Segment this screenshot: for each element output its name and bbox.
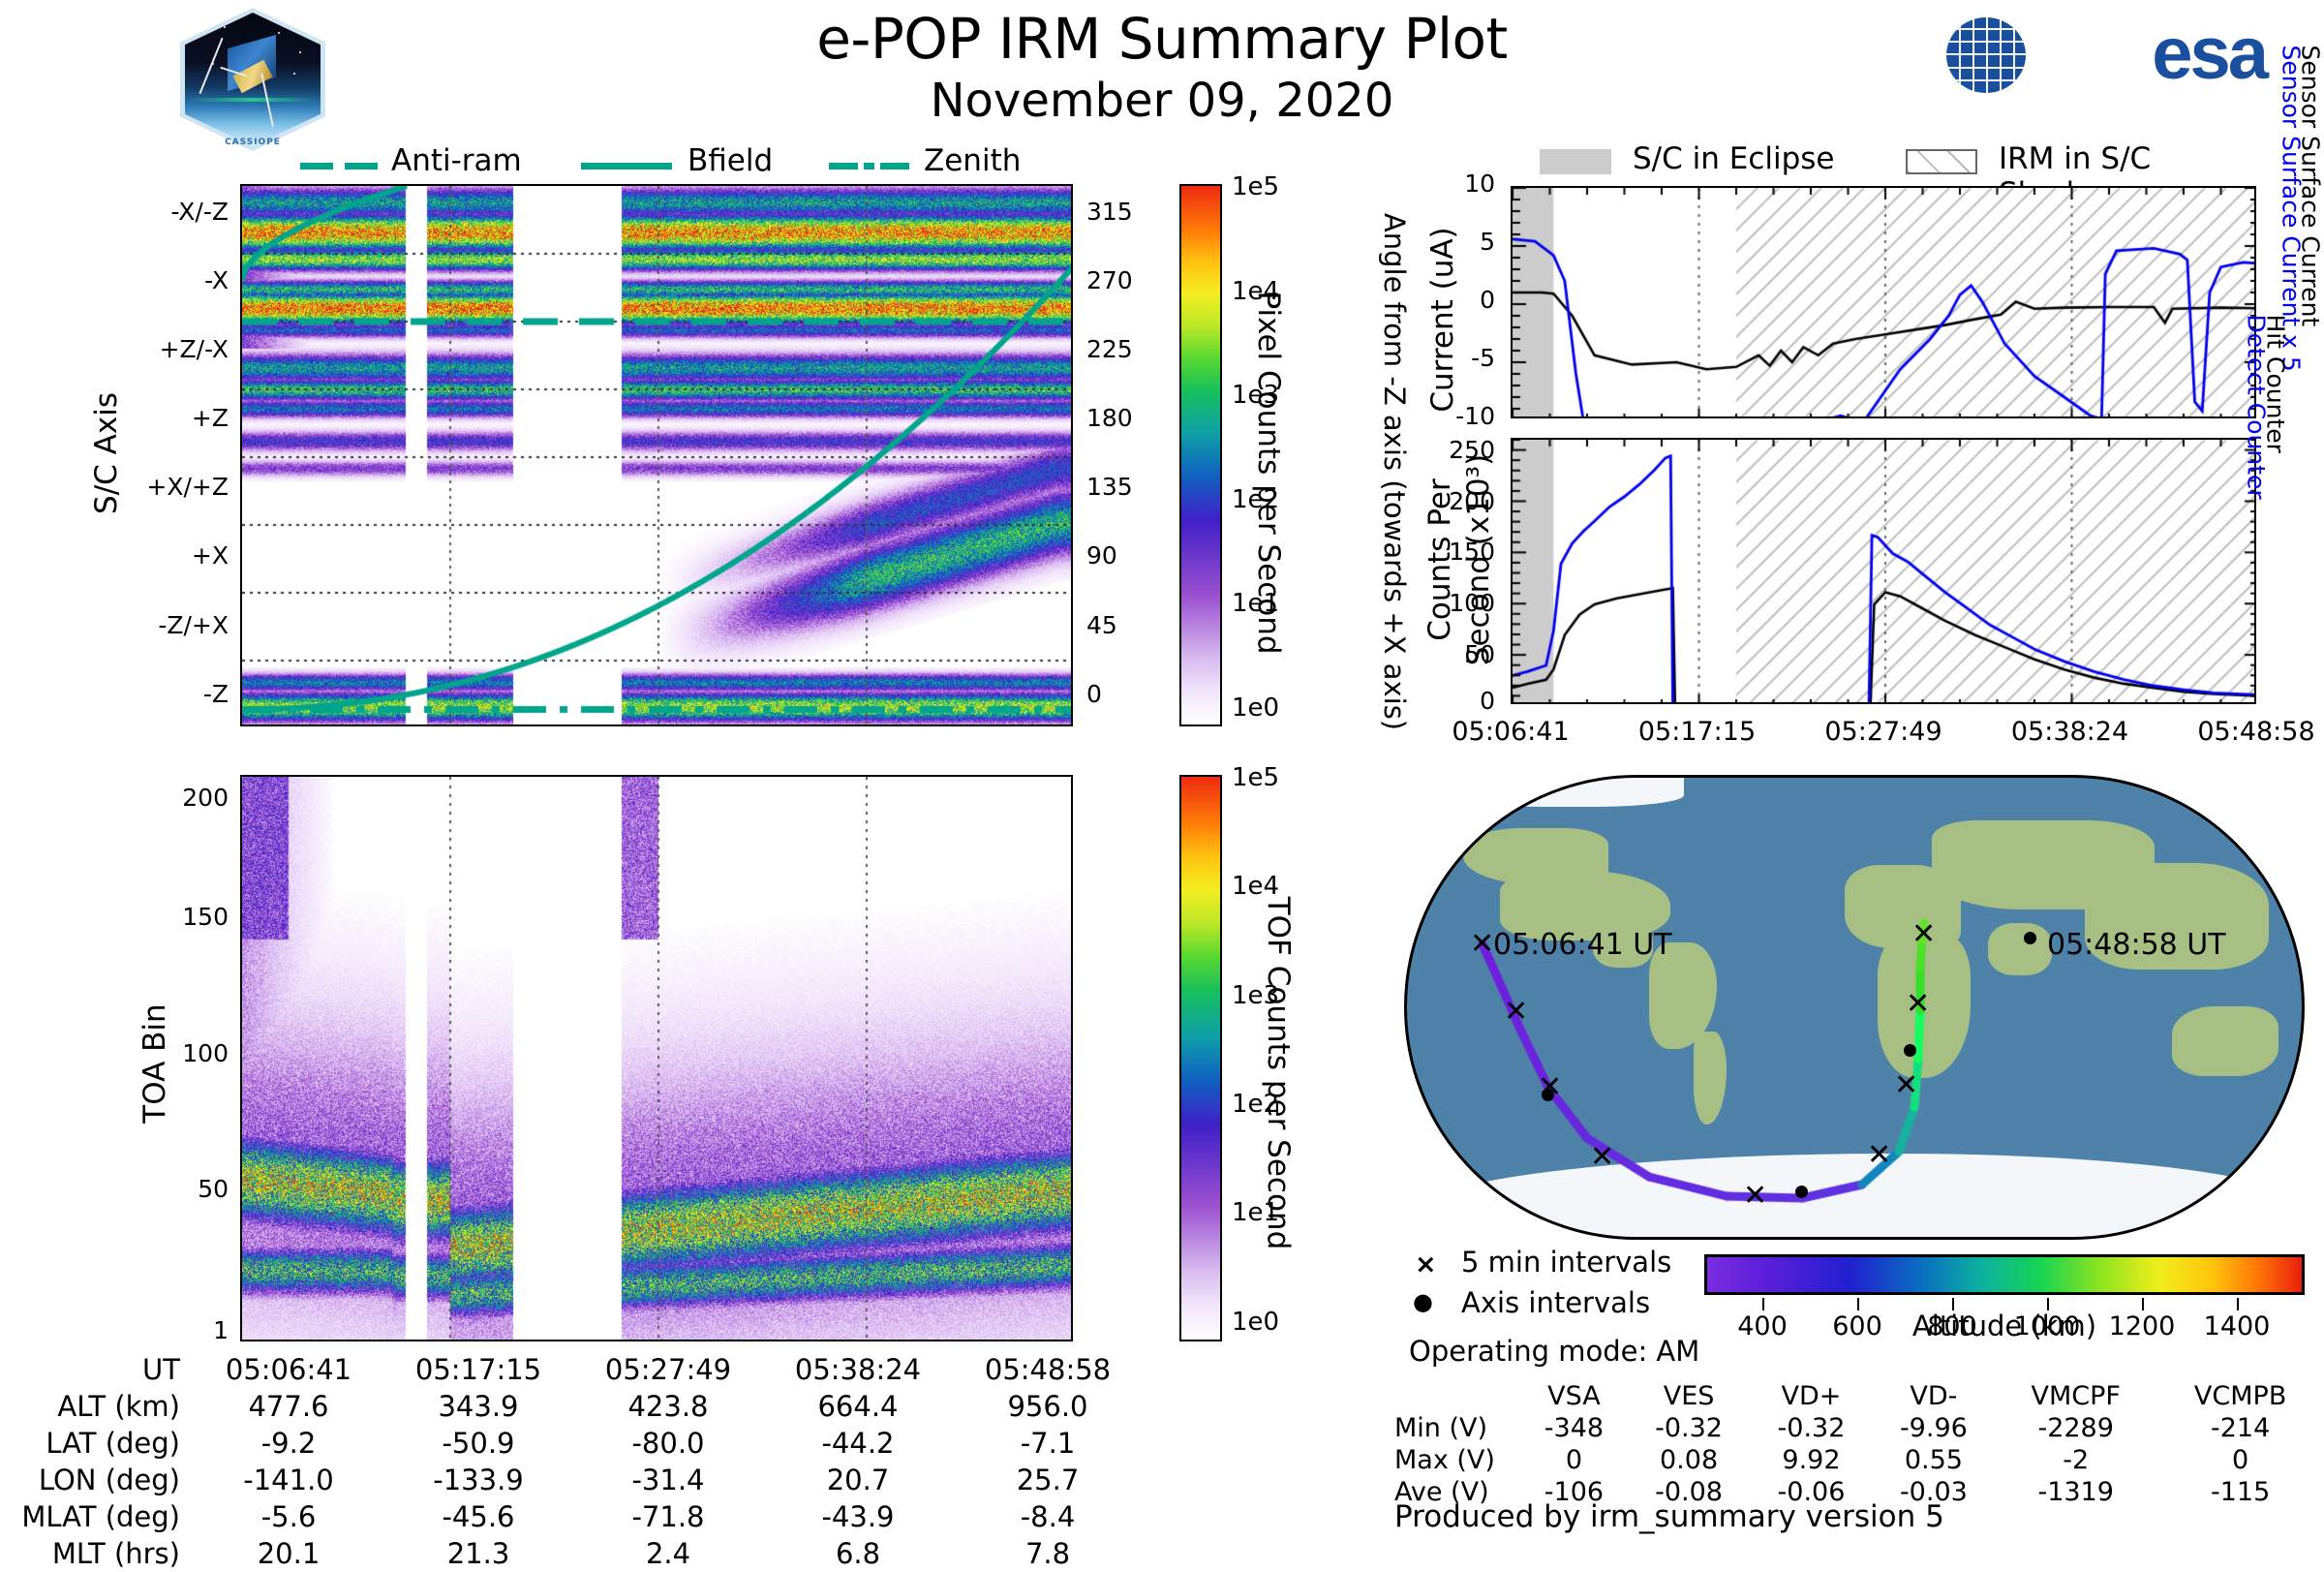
param-cell: -50.9 — [383, 1425, 573, 1462]
pixel-right-tick-7: 0 — [1086, 680, 1174, 708]
counts-ytick-2: 150 — [1375, 538, 1495, 566]
counts-per-second-plot[interactable] — [1511, 438, 2256, 704]
counts-ytick-0: 250 — [1375, 436, 1495, 464]
altitude-colorbar-caption: Altitude (km) — [1704, 1310, 2305, 1342]
eclipse-swatch — [1540, 149, 1611, 174]
param-cell: 21.3 — [383, 1535, 573, 1572]
param-row-label: LON (deg) — [0, 1462, 194, 1498]
altitude-colorbar: 400 600 800 1000 1200 1400 — [1704, 1254, 2305, 1295]
time-tick-1: 05:17:15 — [1605, 717, 1789, 747]
volt-cell: -348 — [1520, 1412, 1628, 1444]
param-cell: -141.0 — [194, 1462, 383, 1498]
x-marker-icon: × — [1415, 1249, 1437, 1279]
time-tick-3: 05:38:24 — [1978, 717, 2162, 747]
param-cell: 05:17:15 — [383, 1351, 573, 1388]
track-marker-x-start: ✕ — [1470, 930, 1494, 959]
map-start-time-label: 05:06:41 UT — [1493, 928, 1672, 962]
time-tick-2: 05:27:49 — [1791, 717, 1975, 747]
param-cell: -31.4 — [573, 1462, 763, 1498]
pixel-ytick-0: -X/-Z — [56, 198, 229, 226]
pixel-right-tick-5: 90 — [1086, 541, 1174, 570]
counts-ytick-3: 100 — [1375, 589, 1495, 617]
table-row: Max (V)00.089.920.55-20 — [1394, 1444, 2324, 1476]
esa-globe-icon — [1946, 17, 2026, 93]
counts-right-label-black: Hit Counter — [2262, 315, 2290, 722]
table-row: MLAT (deg)-5.6-45.6-71.8-43.9-8.4 — [0, 1498, 1143, 1535]
legend-label-zenith: Zenith — [924, 143, 1021, 178]
footer-produced-by: Produced by irm_summary version 5 — [1394, 1499, 1944, 1534]
param-cell: -133.9 — [383, 1462, 573, 1498]
operating-mode-label: Operating mode: AM — [1409, 1335, 1699, 1368]
volt-column-header: VMCPF — [1995, 1380, 2156, 1412]
legend-label-anti-ram: Anti-ram — [391, 143, 522, 178]
param-cell: 05:48:58 — [953, 1351, 1143, 1388]
volt-cell: -1319 — [1995, 1476, 2156, 1508]
table-row: UT05:06:4105:17:1505:27:4905:38:2405:48:… — [0, 1351, 1143, 1388]
pixel-right-tick-3: 180 — [1086, 404, 1174, 432]
param-cell: 423.8 — [573, 1388, 763, 1425]
cassiope-mission-patch: CASSIOPE — [180, 8, 325, 151]
param-cell: 25.7 — [953, 1462, 1143, 1498]
overlay-legend: Anti-ram Bfield Zenith — [290, 143, 1046, 186]
param-cell: 2.4 — [573, 1535, 763, 1572]
tof-counts-spectrogram[interactable] — [240, 775, 1073, 1341]
pixel-ytick-7: -Z — [56, 680, 229, 708]
pixel-cbar-tick-0: 1e5 — [1232, 172, 1279, 201]
track-marker-dot — [1904, 1044, 1916, 1057]
param-cell: 6.8 — [763, 1535, 953, 1572]
shading-legend: S/C in Eclipse IRM in S/C Shadow — [1540, 141, 2276, 180]
track-marker-x: ✕ — [1743, 1182, 1767, 1211]
counts-ytick-5: 0 — [1375, 687, 1495, 715]
volt-cell: -9.96 — [1873, 1412, 1995, 1444]
volt-cell: 9.92 — [1750, 1444, 1872, 1476]
pixel-ytick-4: +X/+Z — [56, 473, 229, 501]
current-ytick-1: 5 — [1375, 228, 1495, 256]
volt-header-blank — [1394, 1380, 1520, 1412]
orbit-parameter-table: UT05:06:4105:17:1505:27:4905:38:2405:48:… — [0, 1351, 1143, 1572]
tof-colorbar — [1179, 775, 1222, 1341]
track-marker-dot — [1542, 1089, 1554, 1101]
volt-cell: -2 — [1995, 1444, 2156, 1476]
param-cell: 20.7 — [763, 1462, 953, 1498]
volt-column-header: VD- — [1873, 1380, 1995, 1412]
param-cell: -45.6 — [383, 1498, 573, 1535]
volt-cell: 0.55 — [1873, 1444, 1995, 1476]
counts-ytick-1: 200 — [1375, 487, 1495, 515]
table-row: Min (V)-348-0.32-0.32-9.96-2289-214 — [1394, 1412, 2324, 1444]
param-row-label: UT — [0, 1351, 194, 1388]
tof-ytick-2: 100 — [95, 1039, 229, 1067]
param-cell: 343.9 — [383, 1388, 573, 1425]
param-cell: 05:38:24 — [763, 1351, 953, 1388]
table-row: LAT (deg)-9.2-50.9-80.0-44.2-7.1 — [0, 1425, 1143, 1462]
surface-current-plot[interactable] — [1511, 186, 2256, 418]
param-cell: -8.4 — [953, 1498, 1143, 1535]
current-ytick-2: 0 — [1375, 286, 1495, 314]
param-row-label: LAT (deg) — [0, 1425, 194, 1462]
pixel-ytick-6: -Z/+X — [56, 611, 229, 639]
pixel-colorbar — [1179, 184, 1222, 726]
tof-colorbar-label: TOF Counts per Second — [1261, 792, 1296, 1354]
current-ytick-3: -5 — [1375, 344, 1495, 372]
param-cell: -7.1 — [953, 1425, 1143, 1462]
param-cell: 956.0 — [953, 1388, 1143, 1425]
shadow-swatch — [1906, 149, 1977, 174]
volt-cell: 0 — [1520, 1444, 1628, 1476]
volt-row-label: Min (V) — [1394, 1412, 1520, 1444]
pixel-right-tick-1: 270 — [1086, 266, 1174, 294]
param-cell: -80.0 — [573, 1425, 763, 1462]
map-legend-five-min: 5 min intervals — [1461, 1246, 1671, 1279]
pixel-counts-spectrogram[interactable] — [240, 184, 1073, 726]
track-marker-x: ✕ — [1894, 1071, 1918, 1100]
esa-logo: esa — [1946, 10, 2266, 97]
tof-ytick-3: 50 — [95, 1175, 229, 1203]
param-cell: -71.8 — [573, 1498, 763, 1535]
volt-cell: -0.32 — [1628, 1412, 1750, 1444]
track-marker-x: ✕ — [1504, 998, 1528, 1027]
param-cell: -43.9 — [763, 1498, 953, 1535]
volt-column-header: VCMPB — [2156, 1380, 2324, 1412]
table-row: MLT (hrs)20.121.32.46.87.8 — [0, 1535, 1143, 1572]
param-cell: 7.8 — [953, 1535, 1143, 1572]
track-marker-x: ✕ — [1867, 1141, 1891, 1170]
pixel-right-tick-4: 135 — [1086, 473, 1174, 501]
param-cell: 477.6 — [194, 1388, 383, 1425]
track-marker-dot-end — [2024, 932, 2036, 944]
volt-cell: -214 — [2156, 1412, 2324, 1444]
track-marker-x: ✕ — [1906, 990, 1930, 1019]
track-marker-x: ✕ — [1911, 920, 1936, 949]
volt-cell: -2289 — [1995, 1412, 2156, 1444]
param-cell: 05:27:49 — [573, 1351, 763, 1388]
param-cell: 05:06:41 — [194, 1351, 383, 1388]
table-row: LON (deg)-141.0-133.9-31.420.725.7 — [0, 1462, 1143, 1498]
voltage-summary-table: VSAVESVD+VD-VMCPFVCMPBMin (V)-348-0.32-0… — [1394, 1380, 2324, 1508]
track-marker-x: ✕ — [1590, 1143, 1614, 1172]
esa-wordmark: esa — [2152, 12, 2266, 96]
ground-track-map[interactable]: ✕ 05:06:41 UT 05:48:58 UT ✕ ✕ ✕ ✕ ✕ ✕ ✕ … — [1404, 775, 2305, 1240]
volt-column-header: VD+ — [1750, 1380, 1872, 1412]
pixel-ytick-2: +Z/-X — [56, 335, 229, 363]
table-row: ALT (km)477.6343.9423.8664.4956.0 — [0, 1388, 1143, 1425]
pixel-colorbar-label: Pixel Counts per Second — [1251, 201, 1286, 744]
pixel-ytick-5: +X — [56, 541, 229, 570]
pixel-right-tick-6: 45 — [1086, 611, 1174, 639]
volt-cell: -115 — [2156, 1476, 2324, 1508]
param-cell: 664.4 — [763, 1388, 953, 1425]
current-ytick-0: 10 — [1375, 170, 1495, 198]
tof-ytick-1: 150 — [95, 903, 229, 931]
pixel-ytick-3: +Z — [56, 404, 229, 432]
param-row-label: ALT (km) — [0, 1388, 194, 1425]
counts-ytick-4: 50 — [1375, 640, 1495, 668]
tof-cbar-tick-0: 1e5 — [1232, 763, 1279, 792]
volt-cell: 0.08 — [1628, 1444, 1750, 1476]
track-marker-dot — [1795, 1186, 1808, 1198]
volt-column-header: VES — [1628, 1380, 1750, 1412]
param-cell: -44.2 — [763, 1425, 953, 1462]
time-tick-4: 05:48:58 — [2164, 717, 2324, 747]
map-legend-axis-intervals: Axis intervals — [1461, 1286, 1650, 1319]
map-end-time-label: 05:48:58 UT — [2047, 928, 2226, 962]
tof-ytick-0: 200 — [95, 784, 229, 812]
param-cell: 20.1 — [194, 1535, 383, 1572]
time-tick-0: 05:06:41 — [1419, 717, 1603, 747]
tof-ytick-4: 1 — [95, 1316, 229, 1344]
volt-cell: -0.32 — [1750, 1412, 1872, 1444]
param-row-label: MLT (hrs) — [0, 1535, 194, 1572]
pixel-ytick-1: -X — [56, 266, 229, 294]
dot-marker-icon: ● — [1413, 1288, 1433, 1315]
current-right-label-black: Sensor Surface Current — [2297, 46, 2324, 588]
pixel-right-tick-2: 225 — [1086, 335, 1174, 363]
param-row-label: MLAT (deg) — [0, 1498, 194, 1535]
table-header-row: VSAVESVD+VD-VMCPFVCMPB — [1394, 1380, 2324, 1412]
volt-row-label: Max (V) — [1394, 1444, 1520, 1476]
param-cell: -5.6 — [194, 1498, 383, 1535]
param-cell: -9.2 — [194, 1425, 383, 1462]
eclipse-legend-label: S/C in Eclipse — [1633, 141, 1835, 176]
volt-cell: 0 — [2156, 1444, 2324, 1476]
pixel-right-tick-0: 315 — [1086, 198, 1174, 226]
volt-column-header: VSA — [1520, 1380, 1628, 1412]
legend-label-bfield: Bfield — [688, 143, 773, 178]
